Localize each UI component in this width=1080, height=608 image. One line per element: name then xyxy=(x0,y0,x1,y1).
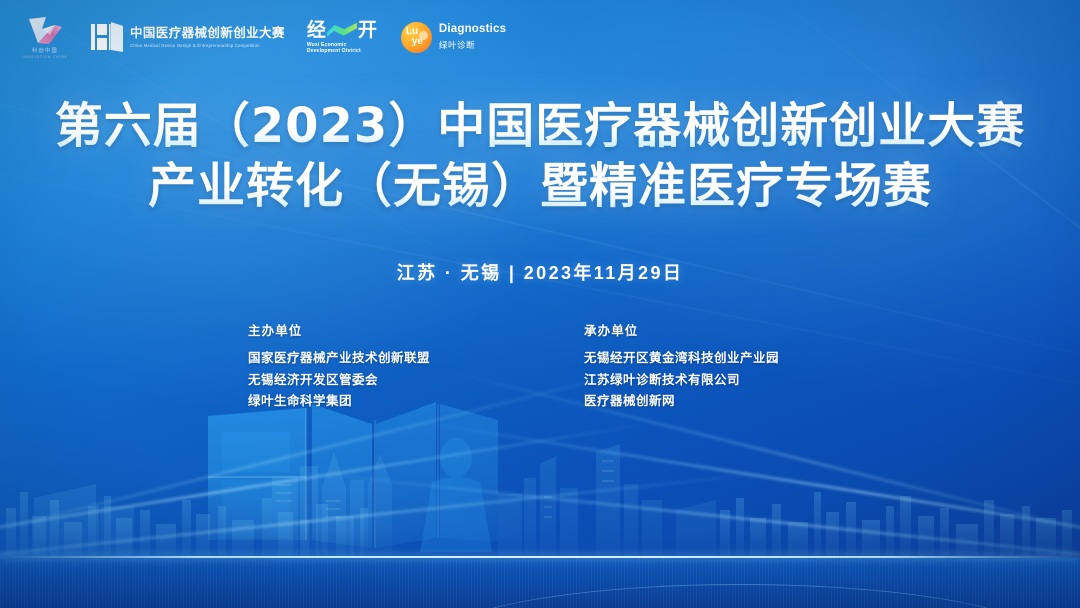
luye-badge-bottom: ye xyxy=(412,37,423,47)
coorganizer-item: 江苏绿叶诊断技术有限公司 xyxy=(584,370,832,392)
coorganizer-item: 无锡经开区黄金湾科技创业产业园 xyxy=(584,348,832,370)
logo-wuxi-glyph-right: 开 xyxy=(358,21,377,40)
logo-bar: 科创中国 INNOVATION CHINA 中国医疗器械创新创业大赛 China… xyxy=(0,0,1080,74)
luye-badge-top: Lu xyxy=(406,27,418,37)
logo-luye-en: Diagnostics xyxy=(439,23,506,37)
title-line-2: 产业转化（无锡）暨精准医疗专场赛 xyxy=(0,156,1080,216)
coorganizer-item: 医疗器械创新网 xyxy=(584,391,832,413)
host-heading: 主办单位 xyxy=(248,320,496,339)
logo-wuxi-en: Wuxi EconomicDevelopment District xyxy=(307,42,361,55)
coorganizer-column: 承办单位 无锡经开区黄金湾科技创业产业园 江苏绿叶诊断技术有限公司 医疗器械创新… xyxy=(584,320,832,413)
logo-innovation-china-en: INNOVATION CHINA xyxy=(23,55,68,59)
reflection-water xyxy=(0,558,1080,608)
coorganizer-heading: 承办单位 xyxy=(584,320,832,339)
swoosh-icon xyxy=(327,23,357,37)
horizon-light-line xyxy=(0,556,1080,558)
logo-competition-cn: 中国医疗器械创新创业大赛 xyxy=(130,26,285,40)
title-line-1: 第六届（2023）中国医疗器械创新创业大赛 xyxy=(0,96,1080,156)
event-location-date: 江苏 · 无锡 | 2023年11月29日 xyxy=(0,259,1080,285)
logo-luye-cn: 绿叶诊断 xyxy=(439,39,506,51)
page-title: 第六届（2023）中国医疗器械创新创业大赛 产业转化（无锡）暨精准医疗专场赛 xyxy=(0,96,1080,217)
logo-luye-diagnostics[interactable]: Lu ye Diagnostics 绿叶诊断 xyxy=(401,22,506,53)
host-column: 主办单位 国家医疗器械产业技术创新联盟 无锡经济开发区管委会 绿叶生命科学集团 xyxy=(248,320,496,413)
logo-innovation-china-cn: 科创中国 xyxy=(32,47,58,54)
logo-competition-en: China Medical Device Design & Entreprene… xyxy=(130,43,285,48)
logo-wuxi-development-district[interactable]: 经 开 Wuxi EconomicDevelopment District xyxy=(307,20,377,55)
luye-circle-icon: Lu ye xyxy=(401,22,432,53)
host-item: 国家医疗器械产业技术创新联盟 xyxy=(248,348,496,370)
logo-wuxi-glyph-left: 经 xyxy=(307,21,326,40)
organizer-section: 主办单位 国家医疗器械产业技术创新联盟 无锡经济开发区管委会 绿叶生命科学集团 … xyxy=(0,320,1080,413)
logo-innovation-china[interactable]: 科创中国 INNOVATION CHINA xyxy=(14,16,76,59)
logo-competition[interactable]: 中国医疗器械创新创业大赛 China Medical Device Design… xyxy=(90,22,285,52)
host-item: 绿叶生命科学集团 xyxy=(248,391,496,413)
poster-canvas: 科创中国 INNOVATION CHINA 中国医疗器械创新创业大赛 China… xyxy=(0,0,1080,608)
host-item: 无锡经济开发区管委会 xyxy=(248,370,496,392)
butterfly-icon xyxy=(25,16,65,46)
gate-mark-icon xyxy=(90,22,124,52)
